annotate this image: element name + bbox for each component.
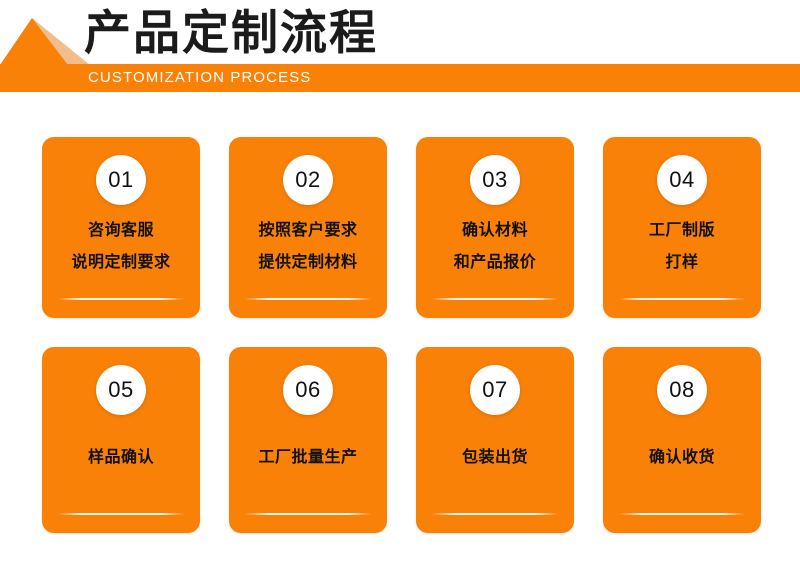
step-description: 咨询客服 说明定制要求 (42, 215, 200, 279)
step-number-badge: 01 (96, 155, 146, 205)
step-number-label: 05 (108, 379, 133, 401)
step-card-08[interactable]: 08 确认收货 (603, 347, 761, 533)
step-divider-line (58, 298, 184, 300)
step-card-01[interactable]: 01 咨询客服 说明定制要求 (42, 137, 200, 318)
step-description-line1: 样品确认 (42, 442, 200, 474)
step-card-06[interactable]: 06 工厂批量生产 (229, 347, 387, 533)
step-card-04[interactable]: 04 工厂制版 打样 (603, 137, 761, 318)
step-number-badge: 03 (470, 155, 520, 205)
step-description-line1: 包装出货 (416, 442, 574, 474)
step-description: 工厂批量生产 (229, 442, 387, 474)
fold-main-triangle-icon (0, 18, 68, 65)
step-description-line1: 咨询客服 (42, 215, 200, 247)
step-divider-line (58, 513, 184, 515)
step-number-badge: 06 (283, 365, 333, 415)
page-subtitle: CUSTOMIZATION PROCESS (88, 66, 311, 90)
step-description: 样品确认 (42, 442, 200, 474)
step-description-line1: 工厂批量生产 (229, 442, 387, 474)
step-number-badge: 07 (470, 365, 520, 415)
step-number-label: 08 (669, 379, 694, 401)
step-number-label: 04 (669, 169, 694, 191)
step-description: 包装出货 (416, 442, 574, 474)
step-number-label: 07 (482, 379, 507, 401)
step-card-05[interactable]: 05 样品确认 (42, 347, 200, 533)
step-description-line1: 确认收货 (603, 442, 761, 474)
step-number-label: 01 (108, 169, 133, 191)
process-steps-grid: 01 咨询客服 说明定制要求 02 按照客户要求 提供定制材料 03 确认材料 … (42, 137, 760, 533)
step-number-badge: 08 (657, 365, 707, 415)
step-divider-line (432, 298, 558, 300)
step-divider-line (619, 513, 745, 515)
step-description-line1: 按照客户要求 (229, 215, 387, 247)
step-description: 确认材料 和产品报价 (416, 215, 574, 279)
step-number-label: 03 (482, 169, 507, 191)
step-divider-line (619, 298, 745, 300)
page-title: 产品定制流程 (84, 2, 378, 64)
step-description-line2: 和产品报价 (416, 247, 574, 279)
step-description-line2: 说明定制要求 (42, 247, 200, 279)
step-description-line2: 打样 (603, 247, 761, 279)
step-description: 确认收货 (603, 442, 761, 474)
step-description: 工厂制版 打样 (603, 215, 761, 279)
page-header: 产品定制流程 CUSTOMIZATION PROCESS (0, 0, 800, 100)
step-card-02[interactable]: 02 按照客户要求 提供定制材料 (229, 137, 387, 318)
step-number-badge: 04 (657, 155, 707, 205)
step-number-badge: 05 (96, 365, 146, 415)
step-description-line2: 提供定制材料 (229, 247, 387, 279)
step-number-label: 02 (295, 169, 320, 191)
step-divider-line (245, 298, 371, 300)
step-description: 按照客户要求 提供定制材料 (229, 215, 387, 279)
step-description-line1: 确认材料 (416, 215, 574, 247)
step-divider-line (245, 513, 371, 515)
step-card-07[interactable]: 07 包装出货 (416, 347, 574, 533)
step-number-label: 06 (295, 379, 320, 401)
step-card-03[interactable]: 03 确认材料 和产品报价 (416, 137, 574, 318)
step-number-badge: 02 (283, 155, 333, 205)
step-divider-line (432, 513, 558, 515)
step-description-line1: 工厂制版 (603, 215, 761, 247)
